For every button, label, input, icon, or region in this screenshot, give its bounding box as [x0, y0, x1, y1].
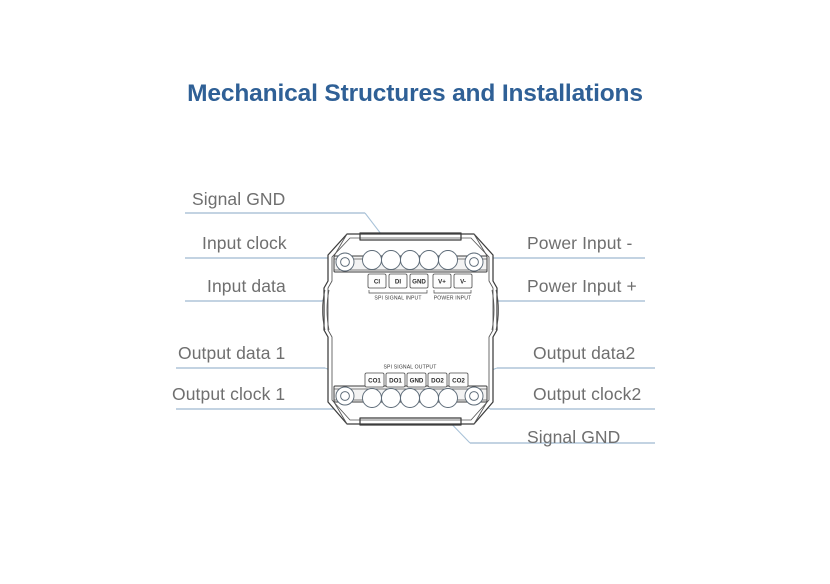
terminal-pin-do2: DO2 [428, 373, 447, 387]
input-group-label-power: POWER INPUT [434, 296, 472, 302]
terminal-pin-co2: CO2 [449, 373, 468, 387]
terminal-pin-vplus: V+ [433, 274, 451, 288]
callout-signal-gnd-top-left: Signal GND [192, 189, 285, 209]
terminal-pin-gnd-out: GND [407, 373, 426, 387]
callout-input-clock: Input clock [202, 233, 287, 253]
output-group-label-spi: SPI SIGNAL OUTPUT [383, 365, 436, 371]
input-group-label-spi: SPI SIGNAL INPUT [374, 296, 421, 302]
callout-power-input-minus: Power Input - [527, 233, 632, 253]
mounting-screw-top-left [336, 253, 354, 271]
mounting-screw-top-right [465, 253, 483, 271]
terminal-pin-do2-label: DO2 [431, 378, 444, 385]
terminal-pin-di: DI [389, 274, 407, 288]
callout-signal-gnd-bottom-right: Signal GND [527, 427, 620, 447]
callout-output-clock-2: Output clock2 [533, 384, 641, 404]
mounting-screw-bottom-right [465, 387, 483, 405]
bottom-wire-ports [363, 389, 458, 408]
diagram-page: Mechanical Structures and Installations [0, 0, 830, 584]
terminal-pin-vplus-label: V+ [438, 279, 446, 286]
callout-output-clock-1: Output clock 1 [172, 384, 285, 404]
terminal-pin-do1: DO1 [386, 373, 405, 387]
terminal-pin-di-label: DI [395, 279, 401, 286]
terminal-pin-gnd-in: GND [410, 274, 428, 288]
terminal-pin-co1: CO1 [365, 373, 384, 387]
input-terminal-block: CI DI GND V+ V- [368, 274, 472, 302]
top-wire-ports [363, 251, 458, 270]
terminal-pin-gnd-in-label: GND [412, 279, 426, 286]
callout-input-data: Input data [207, 276, 286, 296]
mechanical-diagram-figure: CI DI GND V+ V- [0, 0, 830, 584]
callout-power-input-plus: Power Input + [527, 276, 637, 296]
terminal-pin-do1-label: DO1 [389, 378, 402, 385]
callout-output-data-2: Output data2 [533, 343, 635, 363]
terminal-pin-vminus-label: V- [460, 279, 466, 286]
terminal-pin-co2-label: CO2 [452, 378, 465, 385]
mounting-screw-bottom-left [336, 387, 354, 405]
terminal-pin-gnd-out-label: GND [410, 378, 424, 385]
terminal-pin-ci: CI [368, 274, 386, 288]
terminal-pin-ci-label: CI [374, 279, 380, 286]
terminal-pin-vminus: V- [454, 274, 472, 288]
callout-output-data-1: Output data 1 [178, 343, 285, 363]
terminal-pin-co1-label: CO1 [368, 378, 381, 385]
